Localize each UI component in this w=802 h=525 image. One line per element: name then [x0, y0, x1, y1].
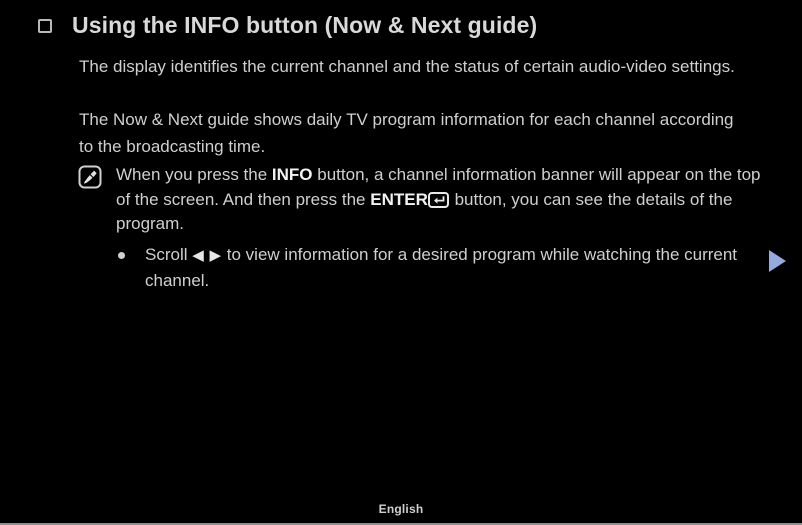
- sub-bullet-segment-2: to view information for a desired progra…: [145, 245, 737, 290]
- enter-button-label: ENTER: [370, 190, 428, 209]
- note-pencil-icon: [78, 165, 102, 189]
- sub-bullet-block: Scroll ◀ ▶ to view information for a des…: [118, 242, 758, 293]
- note-text: When you press the INFO button, a channe…: [116, 163, 766, 237]
- page-title-row: Using the INFO button (Now & Next guide): [38, 10, 537, 40]
- sub-bullet-text: Scroll ◀ ▶ to view information for a des…: [145, 242, 755, 293]
- body-paragraph-2: The Now & Next guide shows daily TV prog…: [79, 106, 744, 160]
- info-button-label: INFO: [272, 165, 313, 184]
- footer-language-label: English: [0, 502, 802, 516]
- body-paragraph-1: The display identifies the current chann…: [79, 53, 744, 80]
- page-title: Using the INFO button (Now & Next guide): [72, 10, 537, 40]
- arrow-right-icon: ▶: [210, 247, 223, 264]
- note-segment-1: When you press the: [116, 165, 272, 184]
- next-page-arrow-icon[interactable]: [769, 250, 786, 272]
- arrow-left-icon: ◀: [192, 247, 205, 264]
- note-block: When you press the INFO button, a channe…: [78, 163, 768, 237]
- enter-key-icon: [428, 191, 449, 207]
- dot-bullet-icon: [118, 252, 125, 259]
- sub-bullet-segment-1: Scroll: [145, 245, 192, 264]
- emanual-page: Using the INFO button (Now & Next guide)…: [0, 0, 802, 525]
- hollow-square-icon: [38, 19, 52, 33]
